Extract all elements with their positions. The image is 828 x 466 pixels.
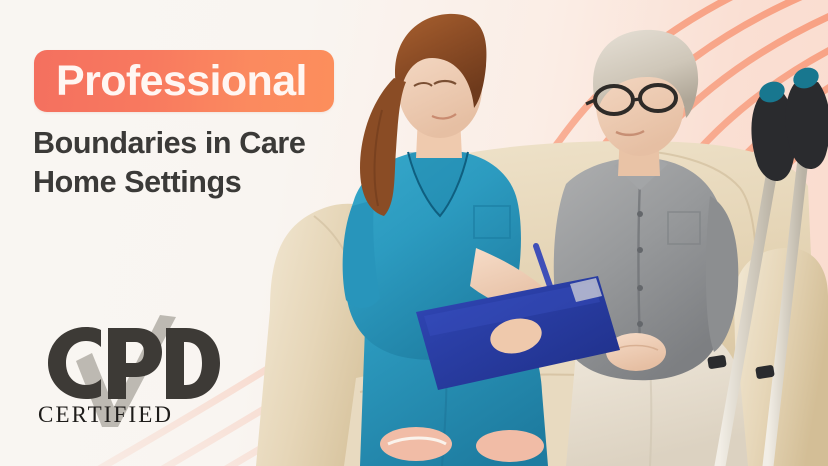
cpd-certified-logo: CERTIFIED	[34, 315, 224, 427]
logo-caption: CERTIFIED	[38, 402, 173, 427]
title-line-2: Home Settings	[33, 163, 393, 202]
nurse-shoe-right	[476, 430, 544, 462]
banner-canvas: Professional Boundaries in Care Home Set…	[0, 0, 828, 466]
resident-figure	[554, 30, 748, 466]
category-badge: Professional	[34, 50, 334, 112]
page-title: Boundaries in Care Home Settings	[33, 124, 393, 202]
badge-label: Professional	[56, 60, 307, 103]
title-line-1: Boundaries in Care	[33, 124, 393, 163]
care-home-photo	[248, 0, 828, 466]
